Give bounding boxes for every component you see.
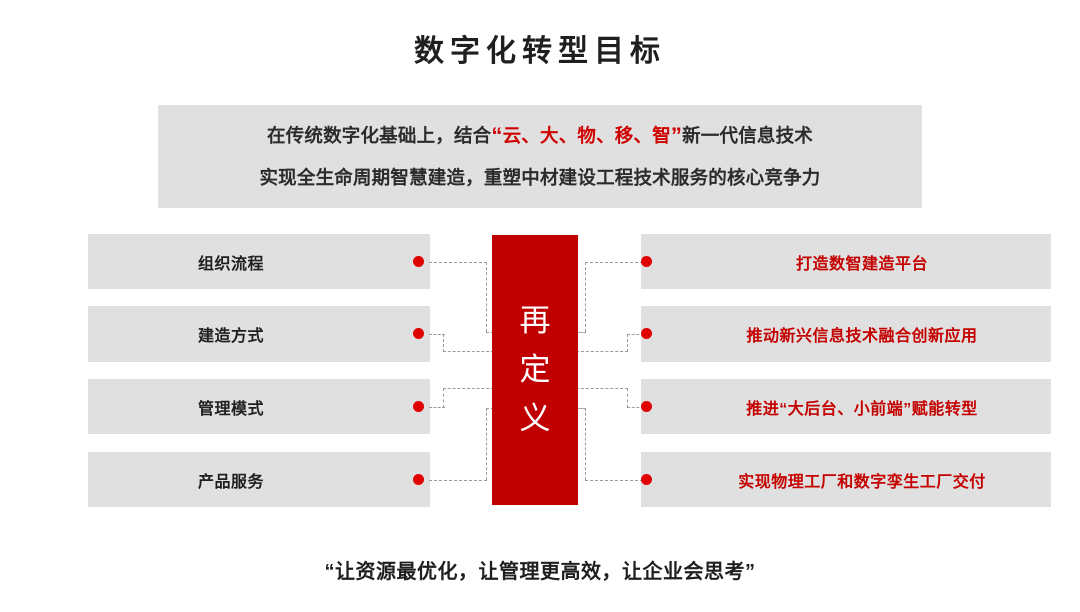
connector-dot-left-row-1 <box>413 256 424 267</box>
connector-right-row-1-v <box>585 262 586 332</box>
right-panel-row-4[interactable]: 实现物理工厂和数字孪生工厂交付 <box>641 452 1051 507</box>
center-char-3: 义 <box>520 404 551 435</box>
connector-left-row-4-v <box>486 408 487 480</box>
right-label-row-1: 打造数智建造平台 <box>796 250 928 274</box>
left-label-row-4: 产品服务 <box>198 468 264 492</box>
bottom-caption: “让资源最优化，让管理更高效，让企业会思考” <box>0 555 1080 584</box>
connector-dot-right-row-1 <box>641 256 652 267</box>
connector-left-row-3-h2 <box>443 388 494 389</box>
right-panel-row-1[interactable]: 打造数智建造平台 <box>641 234 1051 289</box>
connector-dot-left-row-3 <box>413 401 424 412</box>
connector-right-row-2-v <box>627 334 628 352</box>
right-label-row-2: 推动新兴信息技术融合创新应用 <box>746 322 977 346</box>
connector-right-row-1-h2 <box>585 262 643 263</box>
left-label-row-3: 管理模式 <box>198 395 264 419</box>
connector-right-row-3-v <box>627 388 628 408</box>
connector-dot-right-row-3 <box>641 401 652 412</box>
connector-left-row-1-v <box>486 262 487 332</box>
connector-left-row-3-v <box>443 388 444 408</box>
right-panel-row-2[interactable]: 推动新兴信息技术融合创新应用 <box>641 306 1051 362</box>
connector-dot-left-row-2 <box>413 328 424 339</box>
connector-left-row-2-v <box>443 334 444 352</box>
left-label-row-2: 建造方式 <box>198 322 264 346</box>
left-panel-row-2[interactable]: 建造方式 <box>88 306 430 362</box>
connector-dot-right-row-2 <box>641 328 652 339</box>
center-char-1: 再 <box>520 306 551 337</box>
right-label-row-3: 推进“大后台、小前端”赋能转型 <box>746 395 978 419</box>
connector-left-row-2-h2 <box>443 351 494 352</box>
right-panel-row-3[interactable]: 推进“大后台、小前端”赋能转型 <box>641 379 1051 434</box>
connector-left-row-1-h1 <box>429 262 487 263</box>
connector-right-row-4-h2 <box>585 480 643 481</box>
connector-dot-left-row-4 <box>413 474 424 485</box>
left-panel-row-3[interactable]: 管理模式 <box>88 379 430 434</box>
transformation-diagram: 组织流程 建造方式 管理模式 产品服务 打造数智建造平台 推动新兴信息技术融合创… <box>0 0 1080 612</box>
connector-dot-right-row-4 <box>641 474 652 485</box>
connector-left-row-4-h1 <box>429 480 487 481</box>
connector-right-row-4-v <box>585 408 586 480</box>
left-panel-row-4[interactable]: 产品服务 <box>88 452 430 507</box>
left-panel-row-1[interactable]: 组织流程 <box>88 234 430 289</box>
center-redefine-block: 再 定 义 <box>492 235 578 505</box>
right-label-row-4: 实现物理工厂和数字孪生工厂交付 <box>738 468 986 492</box>
connector-right-row-2-h1 <box>576 351 628 352</box>
center-char-2: 定 <box>520 355 551 386</box>
left-label-row-1: 组织流程 <box>198 250 264 274</box>
connector-right-row-3-h1 <box>576 388 628 389</box>
